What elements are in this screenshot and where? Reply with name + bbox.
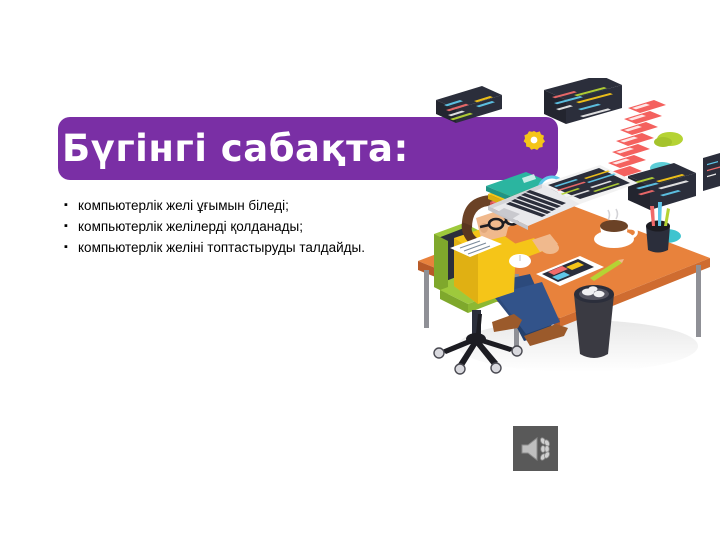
objectives-list: ▪ компьютерлік желі ұғымын біледі; ▪ ком… [62, 196, 392, 259]
bullet-marker-icon: ▪ [62, 238, 78, 257]
list-item-label: компьютерлік желілерді қолданады; [78, 217, 392, 236]
audio-object[interactable] [513, 426, 558, 471]
speaker-icon [519, 435, 553, 463]
list-item: ▪ компьютерлік желілерді қолданады; [62, 217, 392, 236]
cloud-decoration-2 [654, 132, 683, 147]
list-item: ▪ компьютерлік желіні топтастыруды талда… [62, 238, 392, 257]
list-item-label: компьютерлік желіні топтастыруды талдайд… [78, 238, 392, 257]
bullet-marker-icon: ▪ [62, 196, 78, 215]
trash-bin [574, 285, 614, 358]
mouse [509, 254, 531, 268]
bullet-marker-icon: ▪ [62, 217, 78, 236]
page-title: Бүгінгі сабақта: [62, 118, 562, 180]
floating-screen-4 [703, 153, 720, 191]
list-item-label: компьютерлік желі ұғымын біледі; [78, 196, 392, 215]
list-item: ▪ компьютерлік желі ұғымын біледі; [62, 196, 392, 215]
slide-canvas: Бүгінгі сабақта: ▪ компьютерлік желі ұғы… [0, 0, 720, 540]
